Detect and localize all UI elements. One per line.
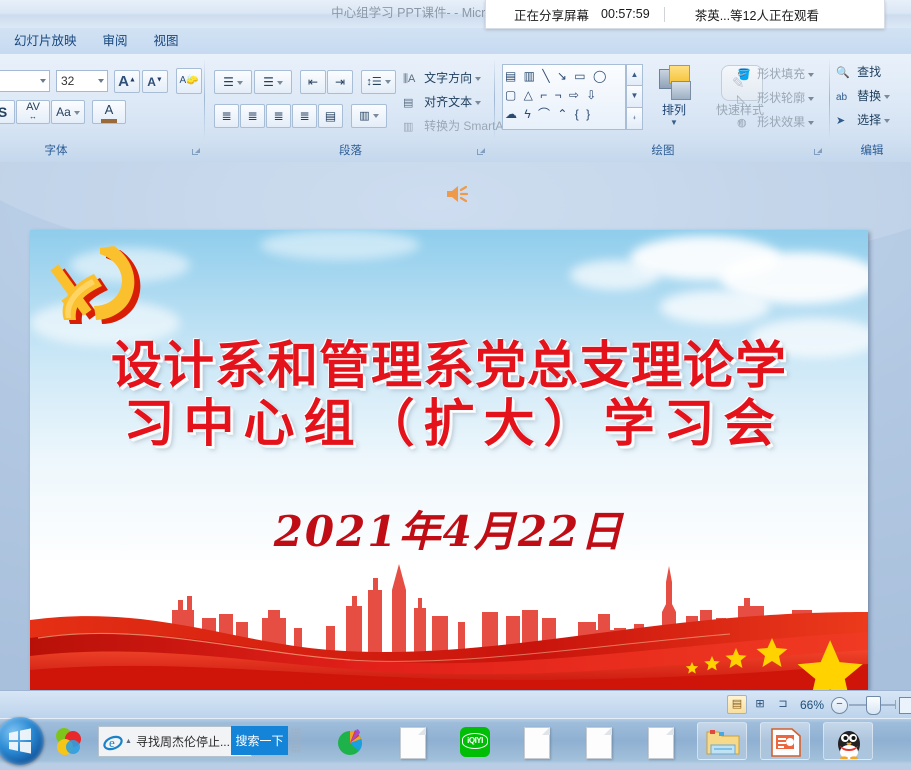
font-color-button[interactable]: A bbox=[92, 100, 126, 124]
text-direction-label: 文字方向 bbox=[424, 71, 472, 85]
shape-effects-icon: ◍ bbox=[737, 116, 754, 129]
screen-share-notification[interactable]: 正在分享屏幕 00:57:59 茶英...等12人正在观看 bbox=[485, 0, 885, 29]
ribbon-group-editing: 🔍 查找 ab 替换 ➤ 选择 编辑 bbox=[833, 54, 911, 162]
font-size-combo[interactable]: 32 bbox=[56, 70, 108, 92]
justify-button[interactable]: ≣ bbox=[292, 104, 317, 128]
ie-search-input[interactable]: e ▲ 寻找周杰伦停止... bbox=[98, 726, 252, 757]
slideshow-view-button[interactable]: ⊐ bbox=[773, 695, 793, 714]
font-size-value: 32 bbox=[61, 74, 74, 88]
powerpoint-taskbar-button[interactable] bbox=[760, 722, 810, 760]
qq-penguin-icon bbox=[833, 725, 865, 759]
tab-slideshow[interactable]: 幻灯片放映 bbox=[2, 28, 89, 54]
share-divider bbox=[664, 7, 665, 22]
replace-icon: ab bbox=[836, 92, 854, 103]
arrange-icon bbox=[649, 63, 699, 101]
find-label: 查找 bbox=[857, 65, 881, 79]
smartart-icon: ▥ bbox=[403, 120, 421, 133]
document-window-4[interactable] bbox=[648, 727, 674, 759]
shapes-scroll-up[interactable]: ▲ bbox=[626, 64, 643, 86]
cloud bbox=[260, 230, 420, 260]
ribbon-group-drawing: ▤ ▥ ╲ ↘ ▭ ◯ ▢ △ ⌐ ¬ ⇨ ⇩ ☁ ϟ ⌒ ⌃ { } ▲ ▼ … bbox=[498, 54, 828, 162]
qq-taskbar-button[interactable] bbox=[823, 722, 873, 760]
normal-view-button[interactable]: ▤ bbox=[727, 695, 747, 714]
find-icon: 🔍 bbox=[836, 66, 854, 79]
select-label: 选择 bbox=[857, 113, 881, 127]
arrange-button[interactable]: 排列 ▼ bbox=[648, 62, 700, 136]
editing-group-label: 编辑 bbox=[833, 142, 911, 158]
document-window-2[interactable] bbox=[524, 727, 550, 759]
arrange-label: 排列 bbox=[649, 101, 699, 118]
slide-bottom-scene bbox=[30, 560, 868, 690]
align-right-button[interactable]: ≣ bbox=[266, 104, 291, 128]
slide-date: 2021年4月22日 bbox=[30, 498, 868, 559]
slide-title-line-2: 习中心组（扩大）学习会 bbox=[30, 396, 868, 454]
red-ribbon-skyline bbox=[30, 560, 868, 690]
shape-fill-icon: 🪣 bbox=[737, 68, 754, 81]
zoom-slider-thumb[interactable] bbox=[866, 696, 881, 715]
share-status-label: 正在分享屏幕 bbox=[514, 5, 589, 24]
drawing-dialog-launcher[interactable] bbox=[813, 148, 822, 157]
zoom-out-button[interactable]: − bbox=[831, 697, 848, 714]
internet-explorer-icon: e bbox=[103, 732, 123, 752]
zoom-percent-label[interactable]: 66% bbox=[800, 691, 824, 719]
shape-effects-label: 形状效果 bbox=[757, 115, 805, 129]
font-name-combo[interactable] bbox=[0, 70, 50, 92]
360-browser-icon[interactable] bbox=[335, 727, 365, 757]
paragraph-group-label: 段落 bbox=[208, 142, 493, 158]
shapes-gallery[interactable]: ▤ ▥ ╲ ↘ ▭ ◯ ▢ △ ⌐ ¬ ⇨ ⇩ ☁ ϟ ⌒ ⌃ { } bbox=[502, 64, 626, 130]
select-button[interactable]: ➤ 选择 bbox=[835, 110, 909, 132]
text-direction-icon: ⫼A bbox=[403, 73, 421, 86]
shape-outline-icon: ◺ bbox=[737, 92, 754, 105]
share-viewers-label: 茶英...等12人正在观看 bbox=[695, 5, 819, 24]
ribbon-tab-strip: 幻灯片放映 审阅 视图 bbox=[0, 28, 911, 55]
align-text-icon: ▤ bbox=[403, 96, 421, 109]
shrink-font-button[interactable]: A▼ bbox=[142, 70, 168, 93]
font-group-label: 字体 bbox=[0, 142, 204, 158]
ie-search-text: 寻找周杰伦停止... bbox=[136, 733, 230, 750]
change-case-button[interactable]: Aa bbox=[51, 100, 85, 124]
document-window-3[interactable] bbox=[586, 727, 612, 759]
status-bar: ▤ ⊞ ⊐ 66% − bbox=[0, 690, 911, 719]
clear-formatting-button[interactable]: A🧽 bbox=[176, 68, 202, 94]
svg-text:e: e bbox=[109, 735, 115, 750]
ie-dropdown-arrow[interactable]: ▲ bbox=[125, 738, 132, 745]
kingsoft-icon[interactable] bbox=[53, 727, 83, 757]
cloud bbox=[660, 290, 770, 324]
party-emblem-icon bbox=[50, 242, 158, 334]
ribbon: 32 A▲ A▼ A🧽 I U abc S bbox=[0, 54, 911, 163]
iqiyi-icon[interactable]: iQIYI bbox=[460, 727, 490, 757]
text-shadow-button[interactable]: S bbox=[0, 100, 15, 124]
slide-canvas[interactable]: 设计系和管理系党总支理论学 习中心组（扩大）学习会 2021年4月22日 bbox=[30, 230, 868, 690]
slide-title-block: 设计系和管理系党总支理论学 习中心组（扩大）学习会 bbox=[30, 338, 868, 454]
align-text-label: 对齐文本 bbox=[424, 95, 472, 109]
increase-indent-button[interactable]: ⇥ bbox=[327, 70, 353, 94]
shapes-scroll-down[interactable]: ▼ bbox=[626, 85, 643, 108]
font-dialog-launcher[interactable] bbox=[191, 148, 200, 157]
fit-to-window-button[interactable] bbox=[899, 697, 911, 714]
explorer-taskbar-button[interactable] bbox=[697, 722, 747, 760]
audio-speaker-icon[interactable] bbox=[443, 182, 471, 206]
zoom-tick bbox=[895, 700, 896, 709]
start-orb[interactable] bbox=[0, 717, 44, 765]
numbering-button[interactable]: ☰ bbox=[254, 70, 292, 94]
ie-search-button[interactable]: 搜索一下 bbox=[231, 726, 288, 755]
document-window-1[interactable] bbox=[400, 727, 426, 759]
ribbon-group-paragraph: ☰ ☰ ⇤ ⇥ ↕☰ ⫼A 文字方向 ▤ 对齐文本 ▥ bbox=[208, 54, 493, 162]
align-center-button[interactable]: ≣ bbox=[240, 104, 265, 128]
folder-explorer-icon bbox=[705, 726, 741, 758]
slide-title-line-1: 设计系和管理系党总支理论学 bbox=[30, 338, 868, 396]
tab-view[interactable]: 视图 bbox=[142, 28, 191, 54]
ribbon-group-font: 32 A▲ A▼ A🧽 I U abc S bbox=[0, 54, 204, 162]
columns-button[interactable]: ▥ bbox=[351, 104, 387, 128]
slide-sorter-view-button[interactable]: ⊞ bbox=[750, 695, 770, 714]
align-left-button[interactable]: ≣ bbox=[214, 104, 239, 128]
shape-outline-label: 形状轮廓 bbox=[757, 91, 805, 105]
cloud bbox=[570, 260, 660, 290]
paragraph-dialog-launcher[interactable] bbox=[476, 148, 485, 157]
share-timer: 00:57:59 bbox=[601, 7, 650, 21]
bullets-button[interactable]: ☰ bbox=[214, 70, 252, 94]
replace-button[interactable]: ab 替换 bbox=[835, 86, 909, 108]
tab-review[interactable]: 审阅 bbox=[91, 28, 140, 54]
find-button[interactable]: 🔍 查找 bbox=[835, 62, 909, 84]
distribute-button[interactable]: ▤ bbox=[318, 104, 343, 128]
line-spacing-button[interactable]: ↕☰ bbox=[361, 70, 396, 94]
grow-font-button[interactable]: A▲ bbox=[114, 70, 140, 93]
taskbar: e ▲ 寻找周杰伦停止... 搜索一下 iQIYI bbox=[0, 718, 911, 764]
toolbar-grip[interactable] bbox=[291, 728, 301, 753]
drawing-group-label: 绘图 bbox=[498, 142, 828, 158]
shapes-more[interactable]: ⍖ bbox=[626, 107, 643, 130]
character-spacing-button[interactable]: AV ↔ bbox=[16, 100, 50, 124]
decrease-indent-button[interactable]: ⇤ bbox=[300, 70, 326, 94]
replace-label: 替换 bbox=[857, 89, 881, 103]
powerpoint-icon bbox=[769, 726, 803, 758]
cursor-icon: ➤ bbox=[836, 114, 854, 127]
shape-fill-label: 形状填充 bbox=[757, 67, 805, 81]
